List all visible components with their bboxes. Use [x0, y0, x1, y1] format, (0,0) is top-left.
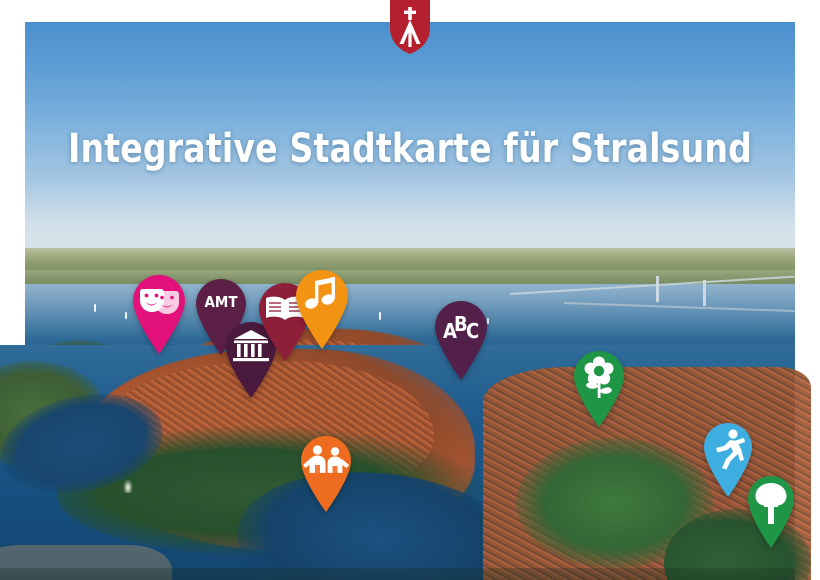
aerial-photo-bleed: [0, 345, 820, 580]
map-pin-garden[interactable]: [570, 349, 628, 427]
sailboat: [94, 304, 96, 312]
theater-masks-icon: [140, 289, 179, 314]
sailboat: [379, 312, 381, 320]
map-pin-theater[interactable]: [128, 272, 190, 354]
map-pin-nature[interactable]: [744, 474, 798, 548]
poster-root: Integrative Stadtkarte für Stralsund AMT: [0, 0, 820, 580]
page-title: Integrative Stadtkarte für Stralsund: [33, 126, 787, 172]
map-pin-family[interactable]: [297, 434, 355, 512]
bridge-pylon: [656, 276, 659, 302]
svg-text:C: C: [466, 319, 479, 343]
map-pin-music[interactable]: [291, 267, 353, 349]
stralsund-coat-of-arms-shield: [387, 0, 433, 54]
sailboat: [125, 312, 127, 319]
map-pin-education[interactable]: A B C: [430, 298, 492, 380]
bridge-pylon: [703, 280, 706, 306]
